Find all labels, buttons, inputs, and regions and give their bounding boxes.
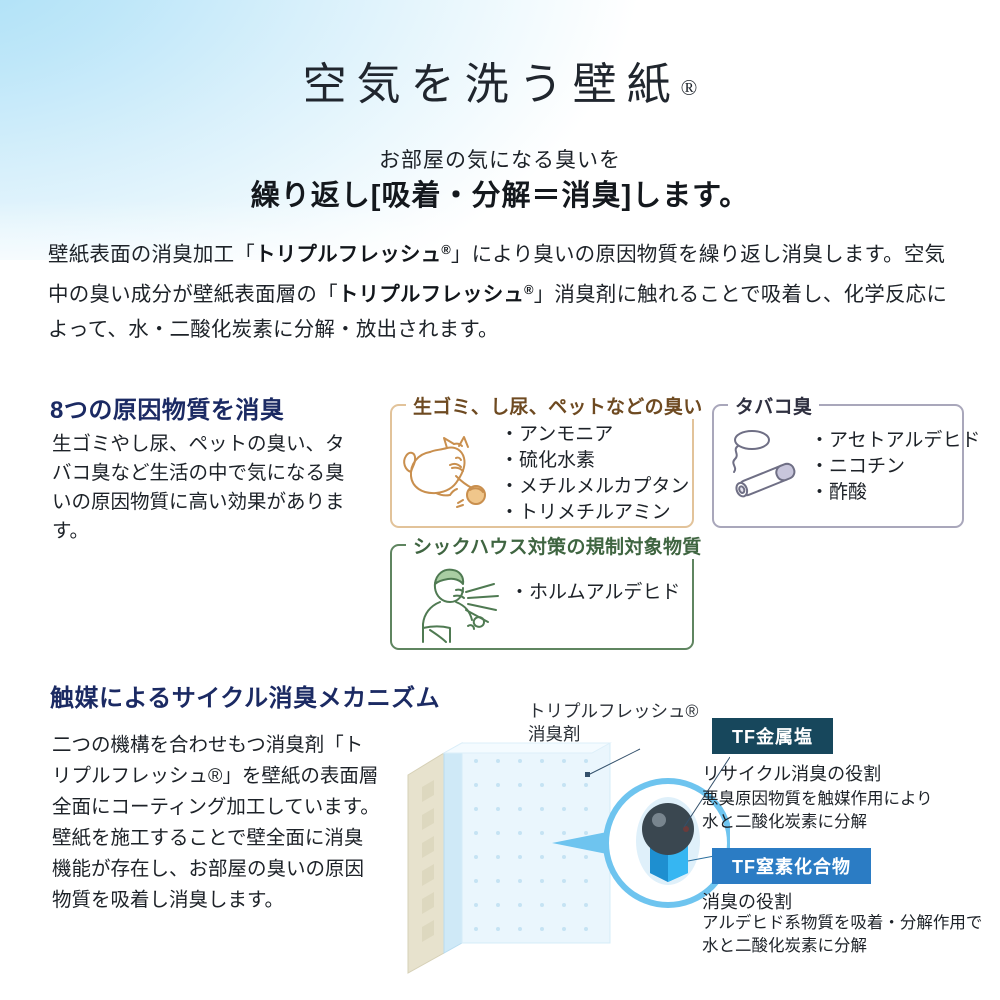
status-badge-tf-metal-salt: TF金属塩 bbox=[712, 718, 833, 754]
odor-box-tobacco-legend: タバコ臭 bbox=[728, 392, 819, 419]
cat-icon bbox=[400, 432, 500, 514]
page-title-text: 空気を洗う壁紙 bbox=[303, 60, 681, 109]
odor-box-waste-legend: 生ゴミ、し尿、ペットなどの臭い bbox=[406, 392, 710, 419]
list-item: ・メチルメルカプタン bbox=[500, 474, 689, 500]
odor-box-tobacco-items: ・アセトアルデヒド ・ニコチン ・酢酸 bbox=[810, 428, 980, 506]
section1-body-text: 生ゴミやし尿、ペットの臭い、タバコ臭など生活の中で気になる臭いの原因物質に高い効… bbox=[52, 430, 362, 546]
odor-box-waste-items: ・アンモニア ・硫化水素 ・メチルメルカプタン ・トリメチルアミン bbox=[500, 422, 689, 526]
cigarette-icon bbox=[722, 428, 808, 504]
list-item: ・アンモニア bbox=[500, 422, 689, 448]
tf-metal-salt-title: リサイクル消臭の役割 bbox=[702, 760, 881, 786]
intro-paragraph: 壁紙表面の消臭加工「トリプルフレッシュ®」により臭いの原因物質を繰り返し消臭しま… bbox=[48, 232, 958, 347]
tf-metal-salt-desc-line2: 水と二酸化炭素に分解 bbox=[702, 811, 933, 834]
section2-body-text: 二つの機構を合わせもつ消臭剤「トリプルフレッシュ®」を壁紙の表面層全面にコーティ… bbox=[52, 730, 382, 916]
status-badge-tf-nitrogen-compound: TF窒素化合物 bbox=[712, 848, 871, 884]
section2-heading: 触媒によるサイクル消臭メカニズム bbox=[50, 678, 440, 713]
tf-metal-salt-description: 悪臭原因物質を触媒作用により 水と二酸化炭素に分解 bbox=[702, 788, 933, 834]
intro-brand-2-registered-icon: ® bbox=[524, 282, 534, 297]
list-item: ・ホルムアルデヒド bbox=[510, 580, 680, 606]
diagram-callout-label-line1: トリプルフレッシュ® bbox=[528, 700, 698, 723]
intro-brand-1: トリプルフレッシュ bbox=[255, 243, 441, 266]
odor-box-sickhouse-items: ・ホルムアルデヒド bbox=[510, 580, 680, 606]
intro-brand-2: トリプルフレッシュ bbox=[338, 283, 524, 306]
tf-metal-salt-desc-line1: 悪臭原因物質を触媒作用により bbox=[702, 788, 933, 811]
infographic-page: 空気を洗う壁紙® お部屋の気になる臭いを 繰り返し[吸着・分解＝消臭]します。 … bbox=[0, 0, 1000, 1000]
wallpaper-layer-diagram bbox=[400, 735, 730, 975]
coughing-person-icon bbox=[410, 562, 506, 646]
list-item: ・硫化水素 bbox=[500, 448, 689, 474]
diagram-callout-label-line2: 消臭剤 bbox=[528, 723, 698, 746]
section1-heading: 8つの原因物質を消臭 bbox=[50, 390, 284, 425]
odor-box-waste: 生ゴミ、し尿、ペットなどの臭い bbox=[390, 404, 694, 528]
list-item: ・ニコチン bbox=[810, 454, 980, 480]
tf-nitrogen-title: 消臭の役割 bbox=[702, 888, 792, 914]
odor-box-sickhouse: シックハウス対策の規制対象物質 ・ホルムアルデヒド bbox=[390, 544, 694, 650]
subtitle-line-1: お部屋の気になる臭いを bbox=[0, 144, 1000, 174]
tf-nitrogen-desc-line2: 水と二酸化炭素に分解 bbox=[702, 935, 982, 958]
intro-segment-1: 壁紙表面の消臭加工「 bbox=[48, 243, 255, 266]
intro-brand-1-registered-icon: ® bbox=[441, 242, 451, 257]
tf-nitrogen-description: アルデヒド系物質を吸着・分解作用で 水と二酸化炭素に分解 bbox=[702, 912, 982, 958]
tf-nitrogen-desc-line1: アルデヒド系物質を吸着・分解作用で bbox=[702, 912, 982, 935]
list-item: ・アセトアルデヒド bbox=[810, 428, 980, 454]
odor-box-tobacco: タバコ臭 ・アセトアルデヒド ・ニコチン ・酢酸 bbox=[712, 404, 964, 528]
odor-box-sickhouse-legend: シックハウス対策の規制対象物質 bbox=[406, 532, 709, 559]
subtitle-line-2: 繰り返し[吸着・分解＝消臭]します。 bbox=[0, 172, 1000, 214]
list-item: ・トリメチルアミン bbox=[500, 500, 689, 526]
page-title: 空気を洗う壁紙® bbox=[0, 48, 1000, 112]
registered-trademark-icon: ® bbox=[681, 75, 698, 100]
diagram-callout-label: トリプルフレッシュ® 消臭剤 bbox=[528, 700, 698, 746]
list-item: ・酢酸 bbox=[810, 480, 980, 506]
